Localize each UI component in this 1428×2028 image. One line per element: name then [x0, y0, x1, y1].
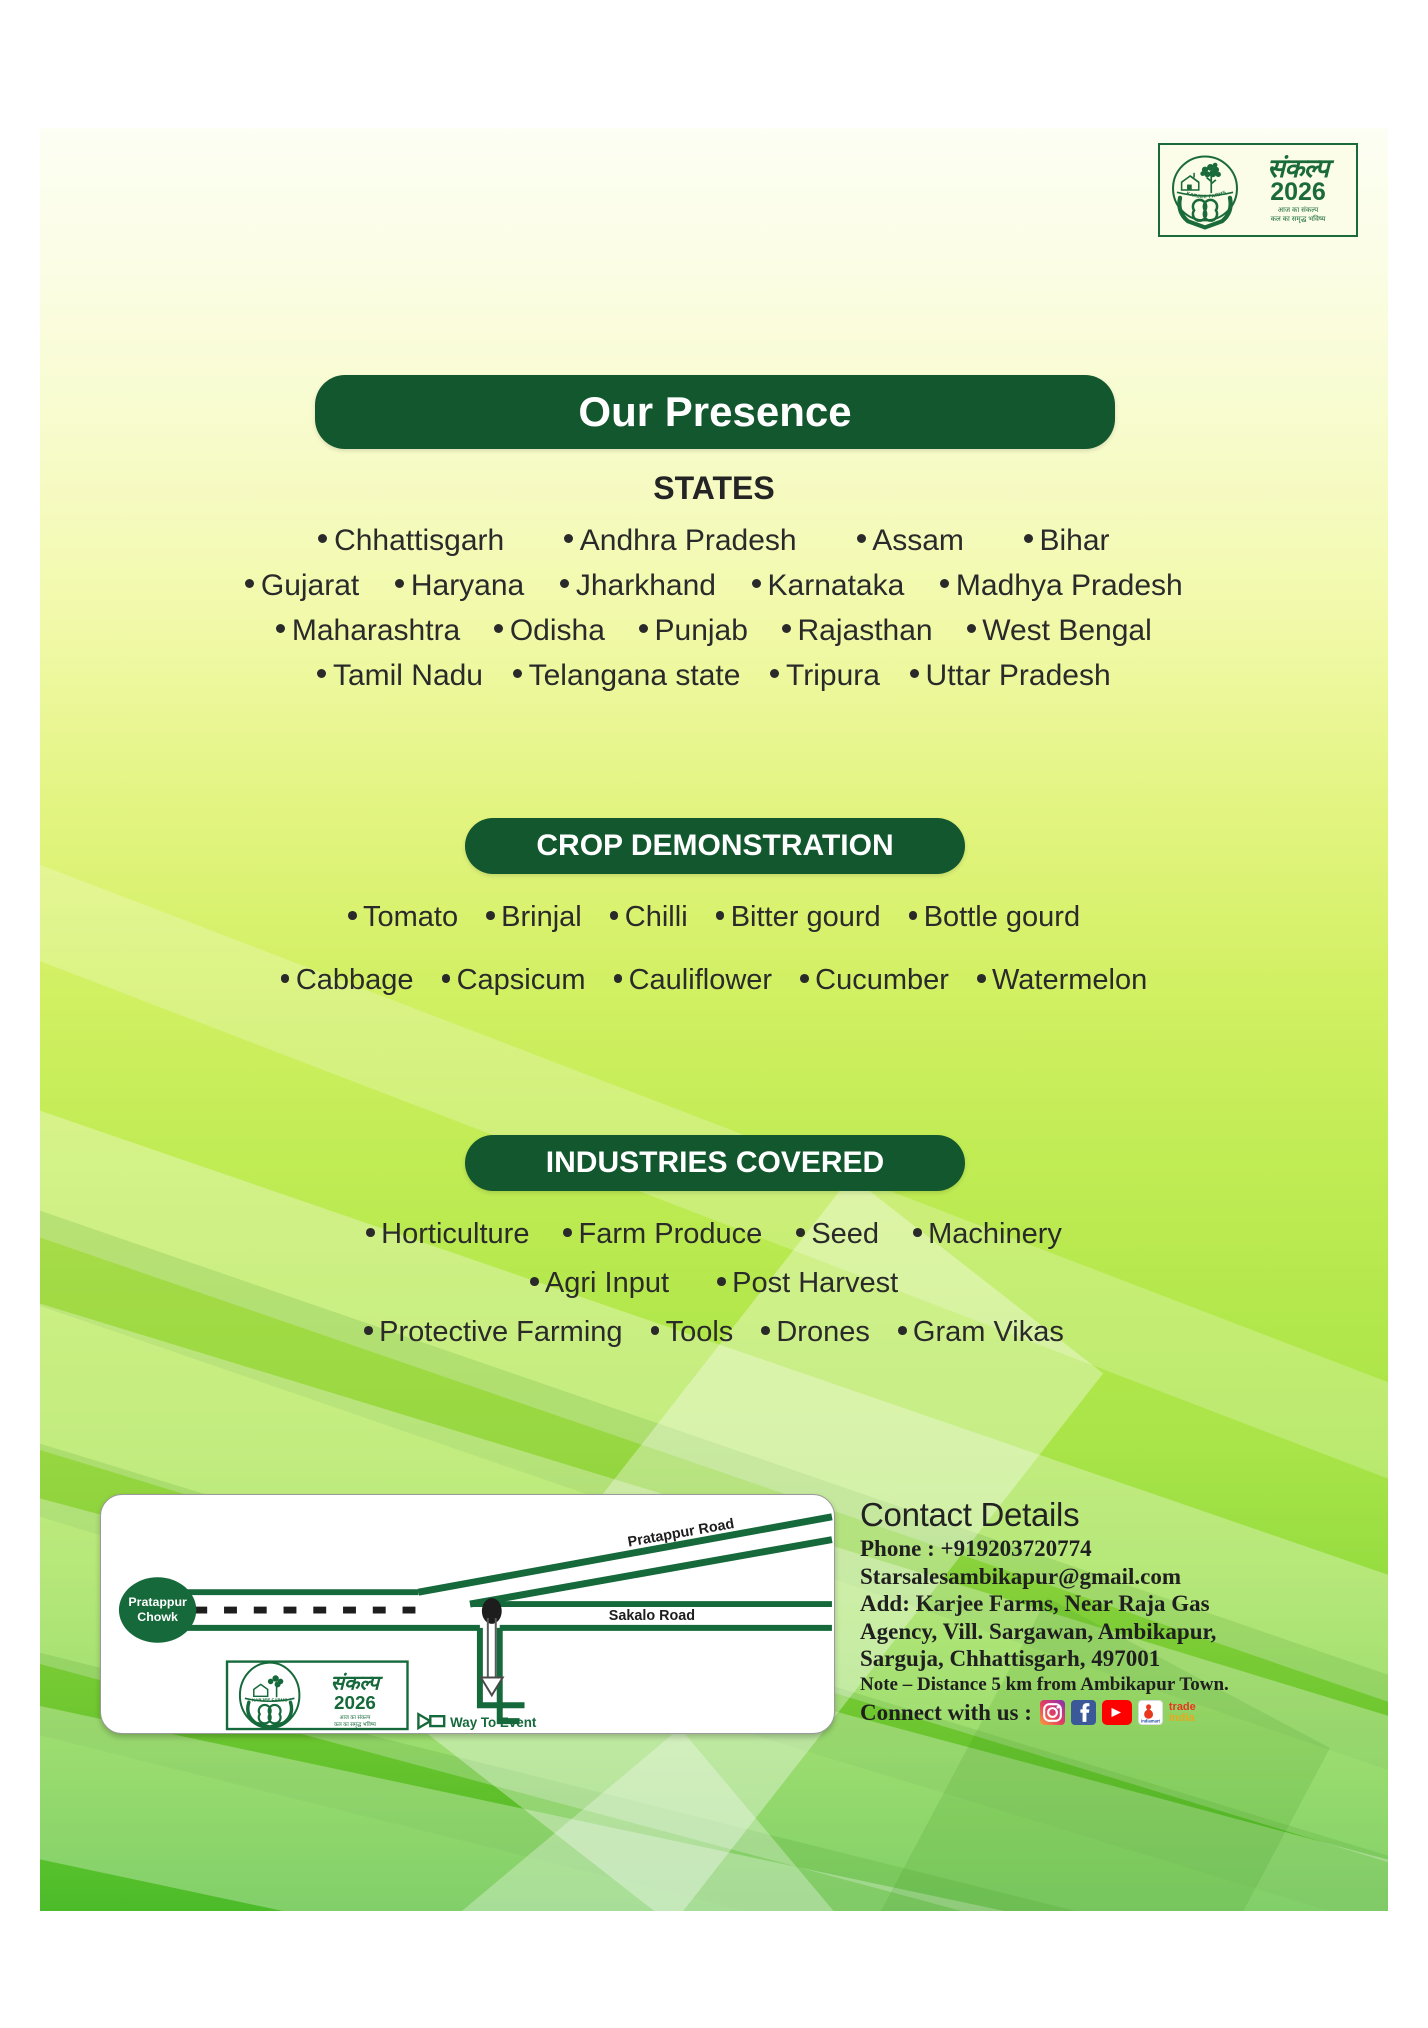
svg-text:2026: 2026	[334, 1692, 376, 1713]
location-map: Pratappur Chowk Way To Event Pratappur R…	[100, 1494, 835, 1734]
svg-text:KARJEE FARMS: KARJEE FARMS	[252, 1697, 288, 1702]
contact-phone[interactable]: Phone : +919203720774	[860, 1535, 1360, 1563]
list-item-label: Post Harvest	[732, 1267, 898, 1300]
list-item-label: Gram Vikas	[913, 1316, 1064, 1349]
industries-covered-banner: INDUSTRIES COVERED	[465, 1135, 965, 1191]
list-item-label: Tamil Nadu	[333, 659, 483, 693]
list-item-label: Maharashtra	[292, 614, 460, 648]
industries-list: HorticultureFarm ProduceSeedMachineryAgr…	[40, 1218, 1388, 1365]
list-item-label: Seed	[811, 1218, 879, 1251]
indiamart-icon[interactable]: indiamart	[1138, 1700, 1163, 1725]
list-item-label: Andhra Pradesh	[580, 524, 797, 558]
poster-canvas: KARJEE FARMS संकल्प 2026 आज का संकल्प कल…	[40, 128, 1388, 1911]
list-row: HorticultureFarm ProduceSeedMachinery	[40, 1218, 1388, 1251]
list-row: MaharashtraOdishaPunjabRajasthanWest Ben…	[40, 614, 1388, 648]
list-item: Gujarat	[245, 569, 359, 603]
list-item-label: Jharkhand	[576, 569, 716, 603]
list-item: Tripura	[770, 659, 880, 693]
bullet-dot-icon	[276, 624, 285, 633]
list-item-label: Farm Produce	[579, 1218, 763, 1251]
list-item-label: Capsicum	[457, 964, 586, 997]
svg-text:आज का संकल्प: आज का संकल्प	[339, 1714, 371, 1721]
map-chowk-label-line2: Chowk	[137, 1610, 178, 1624]
bullet-dot-icon	[940, 579, 949, 588]
list-item: Capsicum	[442, 964, 586, 997]
list-item: Karnataka	[752, 569, 904, 603]
list-row: CabbageCapsicumCauliflowerCucumberWaterm…	[40, 964, 1388, 997]
list-item: Madhya Pradesh	[940, 569, 1182, 603]
bullet-dot-icon	[639, 624, 648, 633]
map-logo-box: KARJEE FARMS संकल्प 2026 आज का संकल्प कल…	[227, 1662, 407, 1729]
contact-title: Contact Details	[860, 1496, 1360, 1534]
list-item-label: Watermelon	[992, 964, 1147, 997]
crop-list: TomatoBrinjalChilliBitter gourdBottle go…	[40, 901, 1388, 1027]
list-row: ChhattisgarhAndhra PradeshAssamBihar	[40, 524, 1388, 558]
karjee-farms-emblem-icon: KARJEE FARMS	[1166, 149, 1244, 231]
logo-tagline-line-1: आज का संकल्प	[1246, 207, 1350, 216]
list-item: Tools	[651, 1316, 734, 1349]
list-item: Cucumber	[800, 964, 949, 997]
list-item: Gram Vikas	[898, 1316, 1064, 1349]
bullet-dot-icon	[770, 669, 779, 678]
contact-email[interactable]: Starsalesambikapur@gmail.com	[860, 1563, 1360, 1591]
list-item-label: Horticulture	[381, 1218, 529, 1251]
list-item: Assam	[857, 524, 964, 558]
logo-tagline-line-2: कल का समृद्ध भविष्य	[1246, 216, 1350, 225]
list-item: Bottle gourd	[909, 901, 1080, 934]
bullet-dot-icon	[494, 624, 503, 633]
bullet-dot-icon	[716, 911, 725, 920]
contact-details-block: Contact Details Phone : +919203720774 St…	[860, 1496, 1360, 1726]
list-item: Machinery	[913, 1218, 1062, 1251]
bullet-dot-icon	[913, 1228, 922, 1237]
list-item: Maharashtra	[276, 614, 460, 648]
list-item-label: Bihar	[1039, 524, 1109, 558]
tradeindia-icon[interactable]: trade india	[1169, 1700, 1209, 1725]
bullet-dot-icon	[796, 1228, 805, 1237]
states-list: ChhattisgarhAndhra PradeshAssamBiharGuja…	[40, 524, 1388, 704]
bullet-dot-icon	[910, 669, 919, 678]
bullet-dot-icon	[898, 1326, 907, 1335]
list-item: Odisha	[494, 614, 605, 648]
bullet-dot-icon	[977, 974, 986, 983]
bullet-dot-icon	[245, 579, 254, 588]
svg-text:कल का समृद्ध भविष्य: कल का समृद्ध भविष्य	[334, 1721, 377, 1728]
list-item: Farm Produce	[563, 1218, 762, 1251]
list-row: Agri InputPost Harvest	[40, 1267, 1388, 1300]
map-way-to-event-label: Way To Event	[450, 1715, 537, 1730]
bullet-dot-icon	[610, 911, 619, 920]
map-sakalo-road-label: Sakalo Road	[609, 1608, 695, 1624]
bullet-dot-icon	[761, 1326, 770, 1335]
list-item-label: Assam	[872, 524, 964, 558]
bullet-dot-icon	[857, 534, 866, 543]
svg-text:संकल्प: संकल्प	[331, 1672, 384, 1694]
bullet-dot-icon	[318, 534, 327, 543]
contact-address-line-2: Agency, Vill. Sargawan, Ambikapur,	[860, 1618, 1360, 1646]
list-row: GujaratHaryanaJharkhandKarnatakaMadhya P…	[40, 569, 1388, 603]
bullet-dot-icon	[967, 624, 976, 633]
bullet-dot-icon	[651, 1326, 660, 1335]
list-item-label: Tomato	[363, 901, 458, 934]
list-row: Protective FarmingToolsDronesGram Vikas	[40, 1316, 1388, 1349]
bullet-dot-icon	[317, 669, 326, 678]
list-item-label: Tools	[666, 1316, 734, 1349]
bullet-dot-icon	[909, 911, 918, 920]
bullet-dot-icon	[1024, 534, 1033, 543]
bullet-dot-icon	[395, 579, 404, 588]
svg-text:indiamart: indiamart	[1141, 1718, 1161, 1723]
list-item-label: Punjab	[655, 614, 748, 648]
list-item: Haryana	[395, 569, 524, 603]
list-item-label: Machinery	[928, 1218, 1062, 1251]
bullet-dot-icon	[563, 1228, 572, 1237]
list-item-label: Bottle gourd	[924, 901, 1080, 934]
list-item: Seed	[796, 1218, 879, 1251]
list-item-label: Cabbage	[296, 964, 414, 997]
bullet-dot-icon	[614, 974, 623, 983]
logo-year: 2026	[1246, 180, 1350, 205]
list-item: Tomato	[348, 901, 458, 934]
list-item: Uttar Pradesh	[910, 659, 1111, 693]
list-item-label: Uttar Pradesh	[926, 659, 1111, 693]
list-item: Jharkhand	[560, 569, 716, 603]
list-item-label: Tripura	[786, 659, 880, 693]
contact-note: Note – Distance 5 km from Ambikapur Town…	[860, 1673, 1360, 1697]
bullet-dot-icon	[513, 669, 522, 678]
list-row: Tamil NaduTelangana stateTripuraUttar Pr…	[40, 659, 1388, 693]
list-item-label: Chilli	[625, 901, 688, 934]
sankalp-2026-logo-badge: KARJEE FARMS संकल्प 2026 आज का संकल्प कल…	[1158, 143, 1358, 237]
list-item: Post Harvest	[717, 1267, 898, 1300]
list-item-label: Cucumber	[815, 964, 949, 997]
list-item-label: Haryana	[411, 569, 524, 603]
bullet-dot-icon	[564, 534, 573, 543]
list-item: West Bengal	[967, 614, 1152, 648]
list-item-label: Agri Input	[545, 1267, 669, 1300]
list-item-label: Bitter gourd	[731, 901, 881, 934]
list-item-label: Karnataka	[768, 569, 905, 603]
list-item: Chilli	[610, 901, 688, 934]
bullet-dot-icon	[530, 1277, 539, 1286]
list-item: Watermelon	[977, 964, 1147, 997]
bullet-dot-icon	[782, 624, 791, 633]
list-item: Protective Farming	[364, 1316, 622, 1349]
bullet-dot-icon	[486, 911, 495, 920]
list-item-label: Madhya Pradesh	[956, 569, 1183, 603]
youtube-icon[interactable]	[1102, 1700, 1132, 1725]
list-item: Drones	[761, 1316, 870, 1349]
list-item-label: Rajasthan	[798, 614, 933, 648]
list-item: Cabbage	[281, 964, 414, 997]
bullet-dot-icon	[560, 579, 569, 588]
list-item: Bihar	[1024, 524, 1110, 558]
svg-text:KARJEE FARMS: KARJEE FARMS	[1185, 189, 1227, 200]
list-item: Bitter gourd	[716, 901, 881, 934]
bullet-dot-icon	[717, 1277, 726, 1286]
facebook-icon[interactable]	[1071, 1700, 1096, 1725]
list-row: TomatoBrinjalChilliBitter gourdBottle go…	[40, 901, 1388, 934]
list-item: Tamil Nadu	[317, 659, 483, 693]
list-item-label: Cauliflower	[629, 964, 772, 997]
list-item-label: West Bengal	[982, 614, 1152, 648]
bullet-dot-icon	[364, 1326, 373, 1335]
tradeindia-label-line-2: india	[1169, 1713, 1195, 1723]
list-item: Rajasthan	[782, 614, 933, 648]
list-item-label: Odisha	[510, 614, 605, 648]
states-heading: STATES	[40, 470, 1388, 507]
bullet-dot-icon	[800, 974, 809, 983]
bullet-dot-icon	[281, 974, 290, 983]
connect-with-us-label: Connect with us :	[860, 1699, 1032, 1727]
connect-with-us-row: Connect with us : indiamart trade india	[860, 1699, 1360, 1727]
contact-address-line-3: Sarguja, Chhattisgarh, 497001	[860, 1645, 1360, 1673]
our-presence-banner: Our Presence	[315, 375, 1115, 449]
list-item: Brinjal	[486, 901, 582, 934]
list-item-label: Drones	[776, 1316, 870, 1349]
list-item: Cauliflower	[614, 964, 773, 997]
list-item: Horticulture	[366, 1218, 529, 1251]
bullet-dot-icon	[366, 1228, 375, 1237]
list-item: Punjab	[639, 614, 748, 648]
bullet-dot-icon	[348, 911, 357, 920]
list-item: Andhra Pradesh	[564, 524, 796, 558]
list-item-label: Brinjal	[501, 901, 582, 934]
list-item: Telangana state	[513, 659, 740, 693]
list-item-label: Protective Farming	[379, 1316, 622, 1349]
list-item-label: Gujarat	[261, 569, 359, 603]
contact-address-line-1: Add: Karjee Farms, Near Raja Gas	[860, 1590, 1360, 1618]
list-item: Chhattisgarh	[318, 524, 504, 558]
instagram-icon[interactable]	[1040, 1700, 1065, 1725]
crop-demonstration-banner: CROP DEMONSTRATION	[465, 818, 965, 874]
bullet-dot-icon	[442, 974, 451, 983]
bullet-dot-icon	[752, 579, 761, 588]
list-item-label: Chhattisgarh	[334, 524, 504, 558]
list-item-label: Telangana state	[529, 659, 741, 693]
tradeindia-label-line-1: trade	[1169, 1702, 1196, 1712]
map-chowk-label-line1: Pratappur	[128, 1595, 187, 1609]
list-item: Agri Input	[530, 1267, 669, 1300]
